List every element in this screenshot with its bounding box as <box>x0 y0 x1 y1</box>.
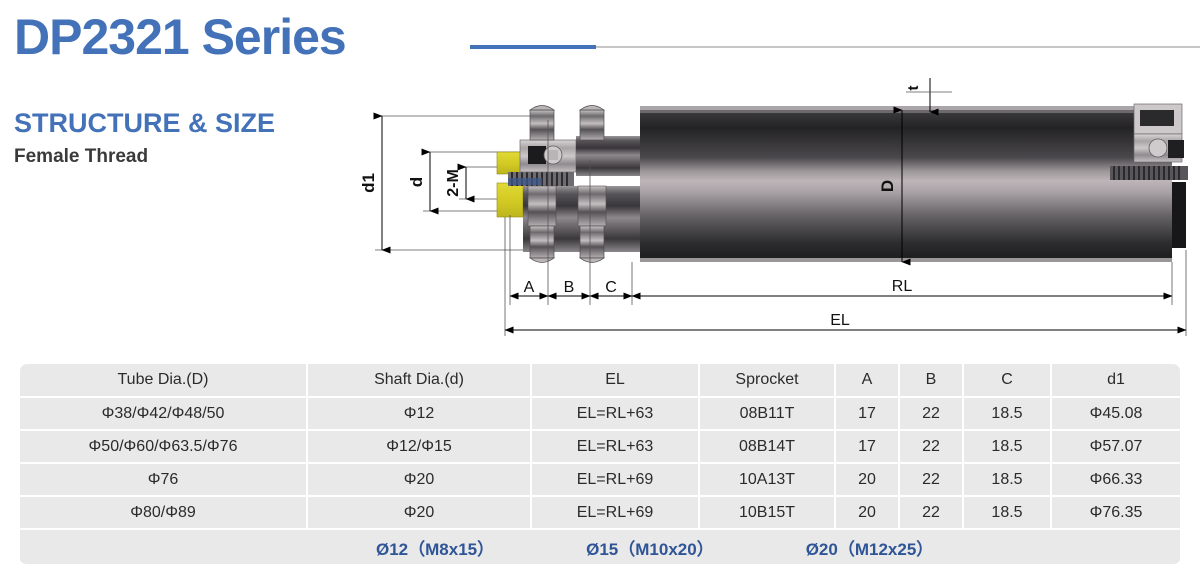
cell-c: 18.5 <box>964 497 1052 530</box>
col-header-el: EL <box>532 364 700 398</box>
table-header-row: Tube Dia.(D) Shaft Dia.(d) EL Sprocket A… <box>20 364 1180 398</box>
cell-b: 22 <box>900 464 964 497</box>
table-row: Φ38/Φ42/Φ48/50 Φ12 EL=RL+63 08B11T 17 22… <box>20 398 1180 431</box>
col-header-sprocket: Sprocket <box>700 364 836 398</box>
cell-c: 18.5 <box>964 431 1052 464</box>
col-header-c: C <box>964 364 1052 398</box>
cell-b: 22 <box>900 431 964 464</box>
cell-c: 18.5 <box>964 398 1052 431</box>
tube-body <box>640 106 1172 262</box>
dim-label-C: C <box>605 279 617 296</box>
cell-shaft-dia: Φ20 <box>308 497 532 530</box>
cell-el: EL=RL+63 <box>532 431 700 464</box>
cell-c: 18.5 <box>964 464 1052 497</box>
table-row: Φ76 Φ20 EL=RL+69 10A13T 20 22 18.5 Φ66.3… <box>20 464 1180 497</box>
cell-shaft-dia: Φ12/Φ15 <box>308 431 532 464</box>
dim-label-t: t <box>905 86 922 91</box>
thread-spec-cell: Ø12（M8x15） Ø15（M10x20） Ø20（M12x25） <box>20 530 1180 566</box>
cell-sprocket: 10B15T <box>700 497 836 530</box>
cell-tube-dia: Φ38/Φ42/Φ48/50 <box>20 398 308 431</box>
end-cap-upper <box>497 152 523 174</box>
cell-el: EL=RL+69 <box>532 497 700 530</box>
spec-table-wrapper: Tube Dia.(D) Shaft Dia.(d) EL Sprocket A… <box>20 364 1180 566</box>
cell-sprocket: 08B11T <box>700 398 836 431</box>
sprocket-2 <box>578 106 606 263</box>
cell-shaft-dia: Φ20 <box>308 464 532 497</box>
dim-label-RL: RL <box>892 278 913 295</box>
cell-sprocket: 08B14T <box>700 431 836 464</box>
cell-el: EL=RL+69 <box>532 464 700 497</box>
thread-spec-15: Ø15（M10x20） <box>586 535 714 560</box>
cell-a: 20 <box>836 464 900 497</box>
cell-a: 17 <box>836 398 900 431</box>
cell-shaft-dia: Φ12 <box>308 398 532 431</box>
col-header-tube-dia: Tube Dia.(D) <box>20 364 308 398</box>
cell-sprocket: 10A13T <box>700 464 836 497</box>
cell-b: 22 <box>900 398 964 431</box>
col-header-b: B <box>900 364 964 398</box>
cell-el: EL=RL+63 <box>532 398 700 431</box>
table-row: Φ80/Φ89 Φ20 EL=RL+69 10B15T 20 22 18.5 Φ… <box>20 497 1180 530</box>
table-row: Φ50/Φ60/Φ63.5/Φ76 Φ12/Φ15 EL=RL+63 08B14… <box>20 431 1180 464</box>
cell-tube-dia: Φ50/Φ60/Φ63.5/Φ76 <box>20 431 308 464</box>
col-header-d1: d1 <box>1052 364 1180 398</box>
dim-label-A: A <box>524 279 535 296</box>
thread-spec-12: Ø12（M8x15） <box>376 535 494 560</box>
cell-tube-dia: Φ80/Φ89 <box>20 497 308 530</box>
end-cap-lower <box>497 183 523 217</box>
cell-b: 22 <box>900 497 964 530</box>
datasheet-page: DP2321 Series STRUCTURE & SIZE Female Th… <box>0 0 1200 560</box>
cell-a: 20 <box>836 497 900 530</box>
cell-d1: Φ45.08 <box>1052 398 1180 431</box>
cell-d1: Φ57.07 <box>1052 431 1180 464</box>
spec-table: Tube Dia.(D) Shaft Dia.(d) EL Sprocket A… <box>20 364 1180 566</box>
dim-label-D: D <box>878 180 897 192</box>
dim-label-d: d <box>407 177 426 187</box>
dim-label-2m: 2-M <box>445 169 462 197</box>
cell-tube-dia: Φ76 <box>20 464 308 497</box>
technical-drawing: d1 d 2-M t D A B C <box>0 0 1200 352</box>
col-header-a: A <box>836 364 900 398</box>
thread-spec-row: Ø12（M8x15） Ø15（M10x20） Ø20（M12x25） <box>20 530 1180 566</box>
cell-d1: Φ76.35 <box>1052 497 1180 530</box>
cell-a: 17 <box>836 431 900 464</box>
cell-d1: Φ66.33 <box>1052 464 1180 497</box>
thread-spec-20: Ø20（M12x25） <box>806 535 934 560</box>
dim-label-B: B <box>564 279 575 296</box>
dim-label-d1: d1 <box>359 173 378 193</box>
dim-label-EL: EL <box>830 312 850 329</box>
col-header-shaft-dia: Shaft Dia.(d) <box>308 364 532 398</box>
